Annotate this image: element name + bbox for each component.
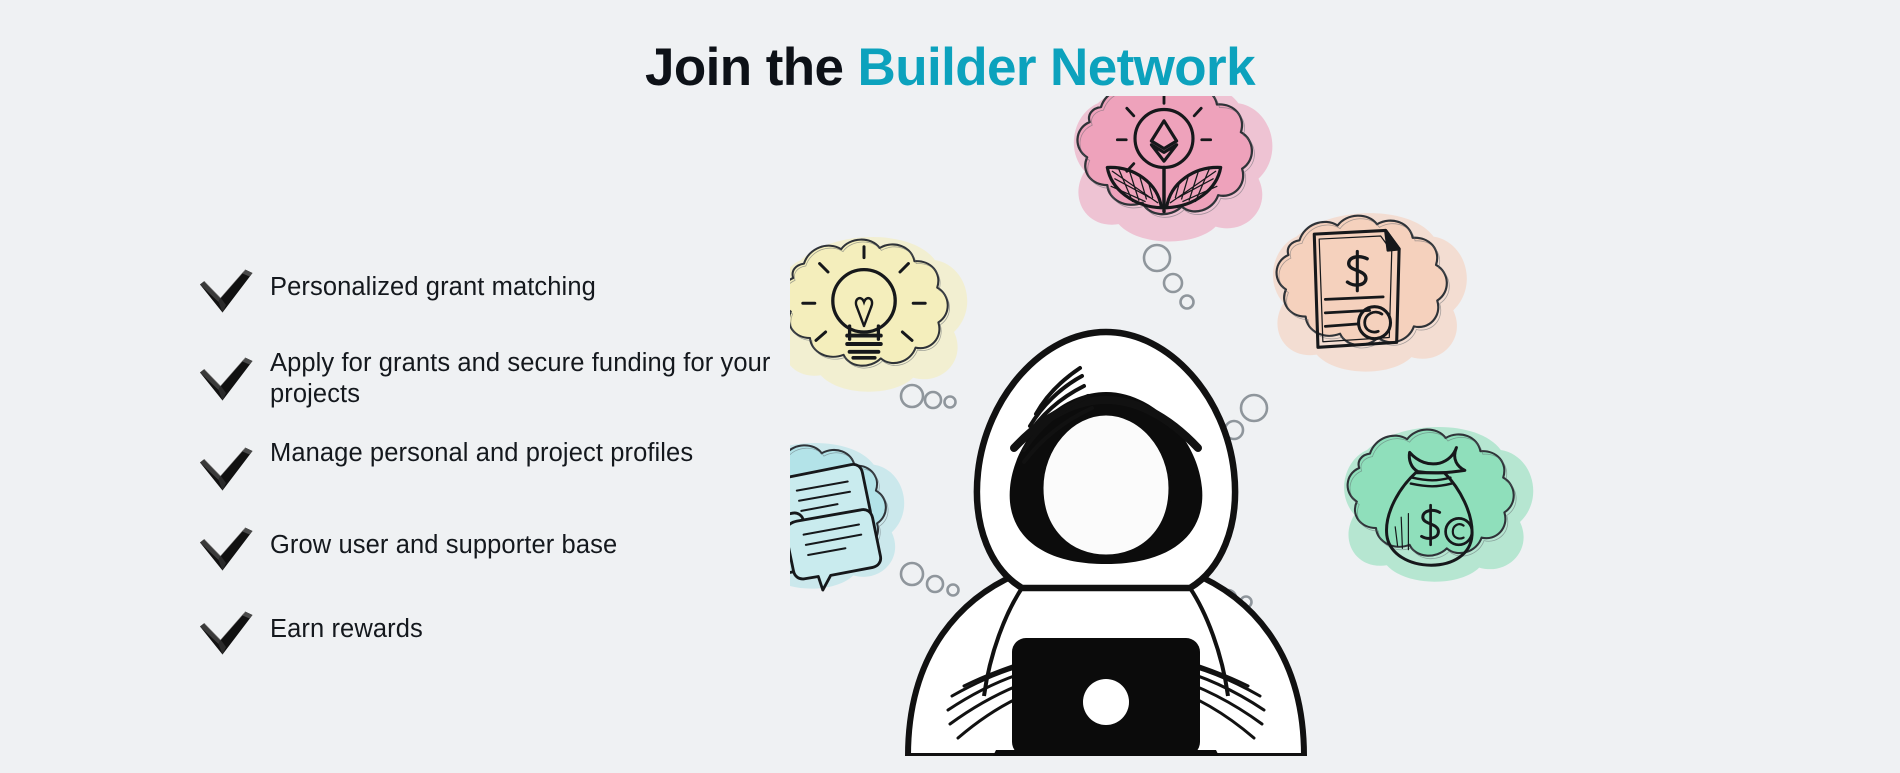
- list-item-label: Grow user and supporter base: [270, 520, 796, 561]
- list-item-label: Apply for grants and secure funding for …: [270, 346, 796, 410]
- list-item: Earn rewards: [196, 604, 796, 662]
- thought-bubble-community: [790, 443, 904, 592]
- list-item: Apply for grants and secure funding for …: [196, 346, 796, 410]
- thought-trail-dots-blue: [901, 563, 959, 596]
- page-title-lead: Join the: [645, 38, 858, 97]
- list-item: Personalized grant matching: [196, 262, 796, 320]
- list-item-label: Earn rewards: [270, 604, 796, 645]
- checkmark-icon: [196, 520, 270, 578]
- page-title-accent: Builder Network: [858, 38, 1255, 97]
- hooded-person-at-laptop: [908, 332, 1304, 756]
- thought-trail-dots-pink: [1144, 245, 1194, 309]
- checkmark-icon: [196, 262, 270, 320]
- thought-bubble-eth-growth: [1074, 96, 1273, 241]
- list-item-label: Personalized grant matching: [270, 262, 796, 303]
- list-item: Grow user and supporter base: [196, 520, 796, 578]
- list-item: Manage personal and project profiles: [196, 436, 796, 494]
- checkmark-icon: [196, 604, 270, 662]
- checkmark-icon: [196, 436, 270, 494]
- thought-bubble-ideas: [790, 237, 967, 392]
- builder-network-promo-section: Join the Builder Network Personalized gr…: [0, 0, 1900, 773]
- page-title: Join the Builder Network: [0, 38, 1900, 97]
- benefits-list: Personalized grant matching Apply for gr…: [196, 262, 796, 662]
- checkmark-icon: [196, 346, 270, 404]
- thought-bubble-rewards: [1344, 427, 1533, 582]
- thought-trail-dots-yellow: [901, 385, 956, 408]
- list-item-label: Manage personal and project profiles: [270, 436, 796, 469]
- hooded-builder-illustration: [790, 96, 1650, 756]
- thought-bubble-grant-contract: [1273, 213, 1467, 372]
